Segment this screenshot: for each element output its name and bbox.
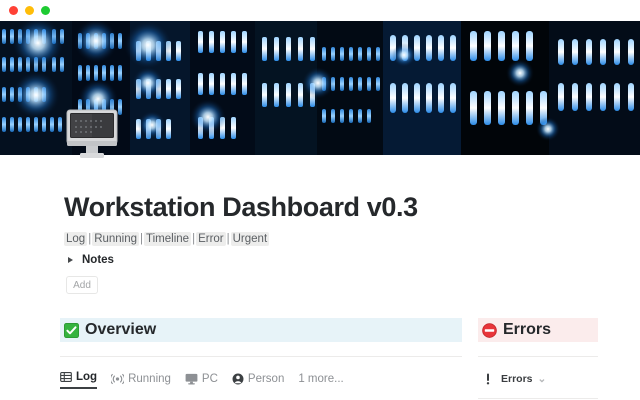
close-button[interactable] [9,6,18,15]
errors-header: Errors [478,318,598,342]
tag-timeline[interactable]: Timeline [144,232,191,246]
page-body: Workstation Dashboard v0.3 Log|Running|T… [0,155,640,400]
desktop-computer-icon[interactable] [62,108,122,162]
app-window: Workstation Dashboard v0.3 Log|Running|T… [0,0,640,400]
overview-header: Overview [60,318,462,342]
errors-row-divider [478,398,598,399]
white-check-mark-icon [64,323,79,338]
tab-log[interactable]: Log [60,371,97,389]
notes-label: Notes [82,254,114,266]
errors-heading: Errors [503,321,551,339]
overview-divider [60,356,462,357]
table-icon [60,371,72,383]
tag-urgent[interactable]: Urgent [231,232,270,246]
errors-row-label: Errors [501,373,533,385]
chevron-down-icon[interactable]: ⌄ [538,373,547,385]
exclamation-icon [484,373,492,385]
tag-error[interactable]: Error [196,232,226,246]
tab-running-label: Running [128,373,171,385]
overview-section: Overview Log [60,318,462,389]
tab-running[interactable]: Running [111,373,171,389]
add-button[interactable]: Add [66,276,98,294]
no-entry-icon [482,323,497,338]
tab-log-label: Log [76,371,97,383]
overview-tabs: Log Running [60,365,462,389]
tag-running[interactable]: Running [92,232,139,246]
window-titlebar [0,0,640,21]
signal-icon [111,373,124,385]
tag-separator: | [226,233,231,245]
errors-section: Errors Errors ⌄ [478,318,598,400]
tag-log[interactable]: Log [64,232,87,246]
overview-heading: Overview [85,321,156,339]
tab-person[interactable]: Person [232,373,284,389]
errors-row[interactable]: Errors ⌄ [478,373,598,385]
maximize-button[interactable] [41,6,50,15]
person-icon [232,373,244,385]
triangle-right-icon[interactable] [68,257,73,263]
tab-pc-label: PC [202,373,218,385]
tab-pc[interactable]: PC [185,373,218,389]
tab-more[interactable]: 1 more... [298,373,343,389]
minimize-button[interactable] [25,6,34,15]
tab-person-label: Person [248,373,284,385]
tag-list: Log|Running|Timeline|Error|Urgent [64,233,269,245]
monitor-icon [185,373,198,385]
page-title: Workstation Dashboard v0.3 [64,192,418,223]
notes-toggle[interactable]: Notes [68,254,114,266]
errors-divider [478,356,598,357]
